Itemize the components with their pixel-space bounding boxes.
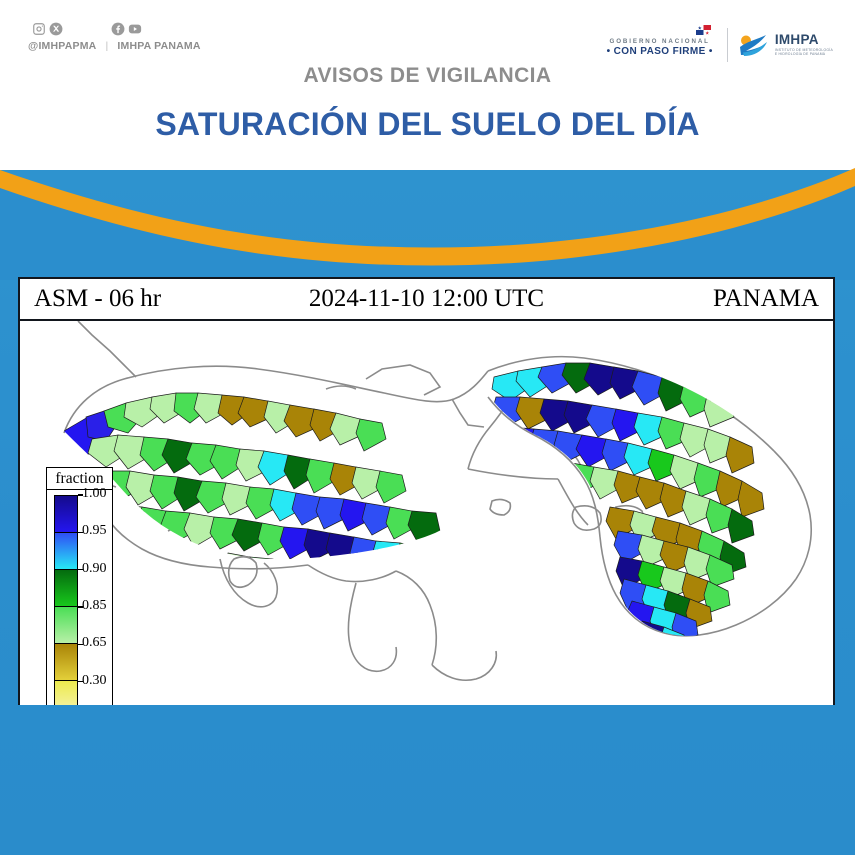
- x-twitter-icon[interactable]: [49, 22, 63, 36]
- panama-choropleth-map: [20, 321, 833, 705]
- imhpa-logo: IMHPA INSTITUTO DE METEOROLOGÍA E HIDROL…: [738, 32, 833, 58]
- logo-block: GOBIERNO NACIONAL • CON PASO FIRME • IMH…: [607, 28, 833, 62]
- map-legend: fraction 1.000.950.900.850.650.300.01: [46, 467, 113, 705]
- imhpa-logo-name: IMHPA: [775, 33, 833, 47]
- facebook-page-name: IMHPA PANAMA: [117, 40, 200, 52]
- map-canvas: fraction 1.000.950.900.850.650.300.01: [20, 321, 833, 705]
- map-panel: ASM - 06 hr 2024-11-10 12:00 UTC PANAMA: [18, 277, 835, 705]
- gov-logo-line2: • CON PASO FIRME •: [607, 46, 713, 57]
- facebook-icon[interactable]: [111, 22, 125, 36]
- map-timestamp-label: 2024-11-10 12:00 UTC: [20, 285, 833, 313]
- legend-band-0.90-0.85: [55, 570, 77, 607]
- gov-logo-line1: GOBIERNO NACIONAL: [610, 38, 710, 45]
- logo-divider: [727, 28, 728, 62]
- youtube-icon[interactable]: [128, 22, 142, 36]
- wave-divider-graphic: [0, 150, 855, 280]
- legend-band-0.65-0.30: [55, 644, 77, 681]
- legend-tick-label: 1.00: [82, 486, 107, 502]
- legend-tick-label: 0.95: [82, 523, 107, 539]
- page-subtitle: AVISOS DE VIGILANCIA: [0, 64, 855, 88]
- legend-color-bar: [54, 495, 78, 705]
- panama-flag-icon: [696, 25, 711, 35]
- legend-tick-labels: 1.000.950.900.850.650.300.01: [78, 495, 112, 705]
- social-icons-row: [28, 22, 201, 36]
- basin-cluster-azuero: [224, 553, 394, 681]
- gobierno-nacional-logo: GOBIERNO NACIONAL • CON PASO FIRME •: [607, 33, 717, 57]
- legend-band-0.85-0.65: [55, 607, 77, 644]
- imhpa-wave-sun-icon: [738, 32, 770, 58]
- social-handles: @IMHPAPMA | IMHPA PANAMA: [28, 40, 201, 52]
- page-header: @IMHPAPMA | IMHPA PANAMA GOBIERNO NACION…: [0, 0, 855, 160]
- social-block: @IMHPAPMA | IMHPA PANAMA: [28, 22, 201, 52]
- legend-tick-label: 0.30: [82, 673, 107, 689]
- social-separator: |: [105, 40, 108, 52]
- legend-tick-label: 0.90: [82, 561, 107, 577]
- instagram-handle: @IMHPAPMA: [28, 40, 96, 52]
- legend-band-0.30-0.01: [55, 681, 77, 705]
- instagram-icon[interactable]: [32, 22, 46, 36]
- infographic-root: @IMHPAPMA | IMHPA PANAMA GOBIERNO NACION…: [0, 0, 855, 855]
- map-panel-header: ASM - 06 hr 2024-11-10 12:00 UTC PANAMA: [20, 279, 833, 321]
- page-title: SATURACIÓN DEL SUELO DEL DÍA: [0, 106, 855, 143]
- legend-tick-label: 0.65: [82, 635, 107, 651]
- watershed-polygons-west: [60, 393, 440, 681]
- legend-band-0.95-0.90: [55, 533, 77, 570]
- imhpa-logo-subtitle-2: E HIDROLOGÍA DE PANAMÁ: [775, 53, 833, 56]
- legend-tick-label: 0.85: [82, 598, 107, 614]
- map-region-label: PANAMA: [713, 285, 819, 313]
- legend-band-1.00-0.95: [55, 496, 77, 533]
